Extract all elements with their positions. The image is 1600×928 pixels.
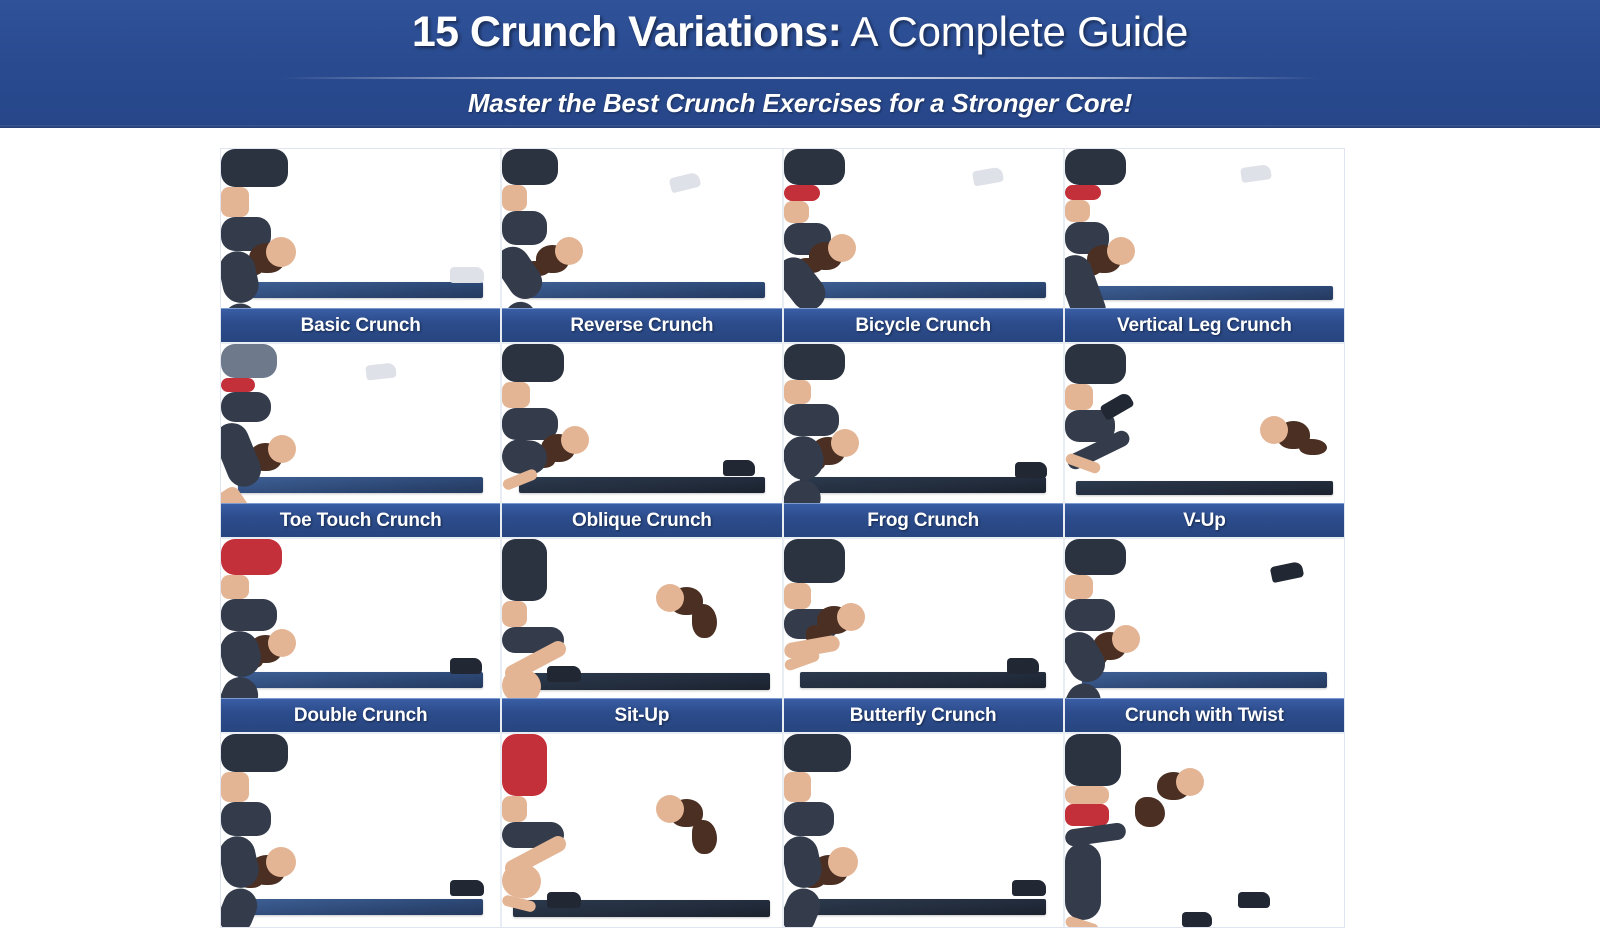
torso (1065, 539, 1126, 575)
exercise-cell[interactable] (1065, 734, 1344, 927)
standing-leg (1065, 843, 1101, 920)
page-title-light: A Complete Guide (841, 8, 1188, 55)
hips (221, 599, 277, 631)
shin (221, 883, 262, 927)
shoe (450, 880, 484, 896)
abdomen (1065, 200, 1090, 222)
title-divider (280, 77, 1320, 79)
exercise-label: Bicycle Crunch (784, 308, 1063, 342)
exercise-photo (221, 539, 500, 698)
exercise-photo (502, 539, 781, 698)
torso (1065, 344, 1126, 384)
exercise-figure (502, 539, 781, 698)
exercise-photo (784, 539, 1063, 698)
exercise-photo (502, 734, 781, 927)
shoe (668, 172, 701, 194)
head (656, 584, 684, 612)
shoe (1015, 462, 1047, 478)
abdomen (221, 772, 249, 802)
torso (502, 149, 558, 185)
abdomen (221, 575, 249, 599)
head (837, 603, 865, 631)
exercise-cell[interactable]: Crunch with Twist (1065, 539, 1344, 732)
exercise-photo (221, 734, 500, 927)
head (561, 426, 589, 454)
shoe (1007, 658, 1039, 674)
head (268, 435, 296, 463)
exercise-figure (502, 344, 781, 503)
shoe (1012, 880, 1046, 896)
exercise-photo (1065, 539, 1344, 698)
exercise-photo (221, 149, 500, 308)
exercise-cell[interactable] (784, 734, 1063, 927)
hips (502, 211, 547, 245)
hips (221, 392, 271, 422)
exercise-figure (784, 539, 1063, 698)
torso (784, 149, 845, 185)
exercise-cell[interactable]: Bicycle Crunch (784, 149, 1063, 342)
abdomen (784, 772, 812, 802)
exercise-figure (221, 344, 500, 503)
hips (1065, 599, 1115, 631)
head (656, 795, 684, 823)
exercise-figure (221, 149, 500, 308)
exercise-cell[interactable]: Oblique Crunch (502, 344, 781, 537)
exercise-figure (502, 149, 781, 308)
ponytail (1135, 797, 1166, 827)
shoe (1099, 391, 1135, 421)
red-band (784, 185, 820, 201)
torso (502, 344, 563, 382)
abdomen (1065, 575, 1093, 599)
torso (221, 539, 282, 575)
red-band (1065, 185, 1101, 200)
exercise-grid: Basic CrunchReverse CrunchBicycle Crunch… (220, 148, 1345, 928)
exercise-label: Sit-Up (502, 698, 781, 732)
torso (1065, 734, 1121, 786)
exercise-cell[interactable]: Basic Crunch (221, 149, 500, 342)
exercise-photo (1065, 344, 1344, 503)
torso (784, 539, 845, 583)
hips (221, 802, 271, 836)
exercise-photo (784, 344, 1063, 503)
abdomen (502, 796, 527, 822)
torso (502, 734, 547, 796)
shoe (547, 666, 581, 682)
exercise-label: Vertical Leg Crunch (1065, 308, 1344, 342)
torso (221, 734, 288, 772)
exercise-cell[interactable]: Reverse Crunch (502, 149, 781, 342)
exercise-mat (519, 477, 765, 493)
exercise-cell[interactable]: Vertical Leg Crunch (1065, 149, 1344, 342)
abdomen (502, 382, 530, 408)
abdomen (502, 185, 527, 211)
shoe (450, 658, 482, 674)
exercise-label: Butterfly Crunch (784, 698, 1063, 732)
exercise-photo (1065, 734, 1344, 927)
exercise-figure (1065, 734, 1344, 927)
head (1112, 625, 1140, 653)
exercise-label: Oblique Crunch (502, 503, 781, 537)
exercise-mat (238, 282, 484, 298)
exercise-figure (502, 734, 781, 927)
exercise-cell[interactable]: Butterfly Crunch (784, 539, 1063, 732)
page-subtitle: Master the Best Crunch Exercises for a S… (0, 88, 1600, 119)
torso (1065, 149, 1126, 185)
shoe (1270, 561, 1305, 583)
exercise-mat (800, 672, 1046, 688)
head (266, 237, 296, 267)
exercise-mat (800, 899, 1046, 915)
shin (502, 666, 544, 698)
torso (502, 539, 547, 601)
shoe-standing (1182, 912, 1212, 927)
exercise-photo (784, 149, 1063, 308)
exercise-cell[interactable]: Frog Crunch (784, 344, 1063, 537)
exercise-mat (1076, 481, 1333, 495)
exercise-label: Frog Crunch (784, 503, 1063, 537)
exercise-figure (1065, 539, 1344, 698)
abdomen (784, 380, 812, 404)
exercise-cell[interactable] (502, 734, 781, 927)
exercise-cell[interactable]: Toe Touch Crunch (221, 344, 500, 537)
head (555, 237, 583, 265)
red-band (221, 378, 255, 392)
hips (784, 802, 834, 836)
head (1176, 768, 1204, 796)
abdomen (784, 201, 809, 223)
ponytail (1299, 439, 1327, 455)
exercise-photo (502, 344, 781, 503)
hips (784, 404, 840, 436)
exercise-grid-wrapper: Basic CrunchReverse CrunchBicycle Crunch… (220, 148, 1345, 900)
abdomen (784, 583, 812, 609)
exercise-label: Double Crunch (221, 698, 500, 732)
exercise-mat (1076, 286, 1333, 300)
ponytail (692, 820, 717, 854)
shoe (723, 460, 755, 476)
shoe (450, 267, 484, 283)
exercise-cell[interactable]: Double Crunch (221, 539, 500, 732)
exercise-figure (221, 734, 500, 927)
shoe (972, 166, 1004, 186)
red-band (1065, 804, 1110, 826)
exercise-figure (784, 149, 1063, 308)
exercise-label: Toe Touch Crunch (221, 503, 500, 537)
abdomen (1065, 786, 1110, 804)
exercise-figure (221, 539, 500, 698)
exercise-mat (1082, 672, 1328, 688)
head (268, 629, 296, 657)
exercise-mat (238, 899, 484, 915)
exercise-photo (784, 734, 1063, 927)
exercise-photo (221, 344, 500, 503)
exercise-figure (784, 734, 1063, 927)
ponytail (692, 604, 717, 638)
exercise-mat (238, 672, 484, 688)
head (1107, 237, 1135, 265)
exercise-label: V-Up (1065, 503, 1344, 537)
shoe (1240, 164, 1272, 183)
exercise-mat (800, 282, 1046, 298)
torso (784, 344, 845, 380)
exercise-mat (238, 477, 484, 493)
head (831, 429, 859, 457)
exercise-label: Basic Crunch (221, 308, 500, 342)
exercise-cell[interactable]: V-Up (1065, 344, 1344, 537)
abdomen (502, 601, 527, 627)
exercise-cell[interactable]: Sit-Up (502, 539, 781, 732)
page-header: 15 Crunch Variations: A Complete Guide M… (0, 0, 1600, 128)
exercise-label: Reverse Crunch (502, 308, 781, 342)
shin (784, 883, 825, 927)
page-title-strong: 15 Crunch Variations: (412, 8, 841, 56)
exercise-figure (1065, 149, 1344, 308)
exercise-mat (519, 282, 765, 298)
exercise-cell[interactable] (221, 734, 500, 927)
abdomen (1065, 384, 1093, 410)
exercise-photo (502, 149, 781, 308)
torso (221, 344, 277, 378)
torso (221, 149, 288, 187)
head (266, 847, 296, 877)
torso (784, 734, 851, 772)
exercise-photo (1065, 149, 1344, 308)
exercise-mat (800, 477, 1046, 493)
page-title: 15 Crunch Variations: A Complete Guide (0, 11, 1600, 54)
shoe (366, 362, 397, 380)
exercise-figure (784, 344, 1063, 503)
head (828, 234, 856, 262)
abdomen (221, 187, 249, 217)
exercise-figure (1065, 344, 1344, 503)
head (828, 847, 858, 877)
exercise-label: Crunch with Twist (1065, 698, 1344, 732)
